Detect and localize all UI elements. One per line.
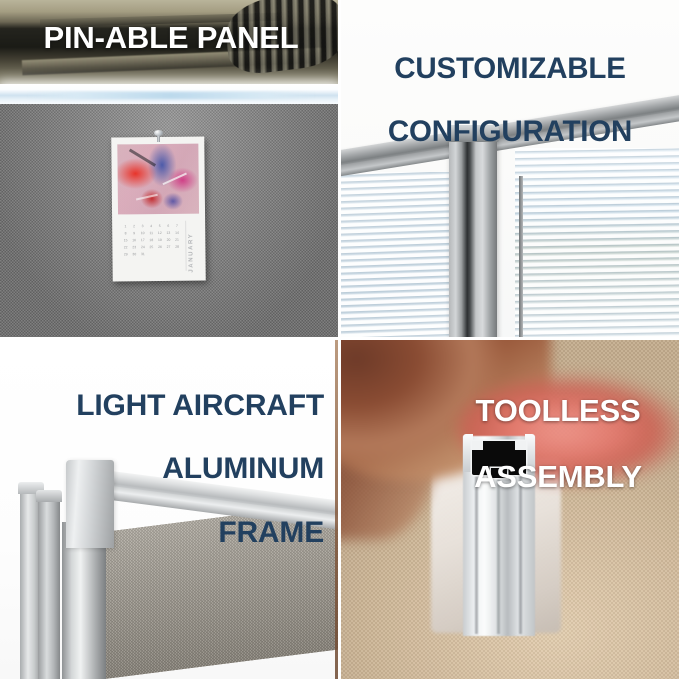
vertical-post-extrusion [449, 131, 497, 337]
calendar-day: 31 [139, 251, 148, 258]
calendar-day: 27 [164, 244, 173, 251]
profile-tongue-slot [491, 468, 507, 478]
profile-web-center [497, 476, 500, 634]
profile-web-left [475, 476, 478, 634]
ceiling-duct-spiral-icon [222, 0, 338, 77]
window-sash [519, 176, 523, 337]
ceiling-backdrop [0, 0, 338, 84]
right-edge-accent [335, 340, 338, 679]
calendar-day: 25 [147, 244, 156, 251]
product-feature-infographic: 1 2 3 4 5 6 7 8 9 10 11 12 13 14 15 16 1… [0, 0, 679, 679]
calendar-divider [185, 221, 187, 271]
pinned-calendar: 1 2 3 4 5 6 7 8 9 10 11 12 13 14 15 16 1… [111, 137, 206, 282]
profile-notch-right [515, 441, 526, 450]
adjacent-post-front [38, 496, 60, 679]
adjacent-post-front-cap [36, 490, 62, 502]
calendar-day: 29 [121, 251, 130, 258]
calendar-day: 28 [173, 244, 182, 251]
panel-toolless-assembly [341, 340, 679, 679]
push-pin-icon [154, 130, 163, 142]
panel-customizable-configuration [341, 0, 679, 337]
profile-notch-left [472, 441, 483, 450]
profile-web-right [519, 476, 522, 634]
panel-light-aircraft-aluminum-frame [0, 340, 338, 679]
fluorescent-light-core [26, 92, 316, 99]
calendar-month-label: JANUARY [188, 221, 199, 273]
frame-corner-joint [66, 460, 114, 548]
calendar-day-grid: 1 2 3 4 5 6 7 8 9 10 11 12 13 14 15 16 1… [121, 223, 181, 268]
panel-fabric-surface [104, 502, 338, 679]
calendar-artwork [117, 144, 199, 215]
profile-lip-right [525, 434, 535, 472]
panel-pin-able-panel: 1 2 3 4 5 6 7 8 9 10 11 12 13 14 15 16 1… [0, 0, 338, 337]
calendar-day: 30 [130, 251, 139, 258]
calendar-day: 26 [156, 244, 165, 251]
glass-panel-right-with-blinds [515, 148, 679, 337]
post-cap [447, 125, 499, 142]
